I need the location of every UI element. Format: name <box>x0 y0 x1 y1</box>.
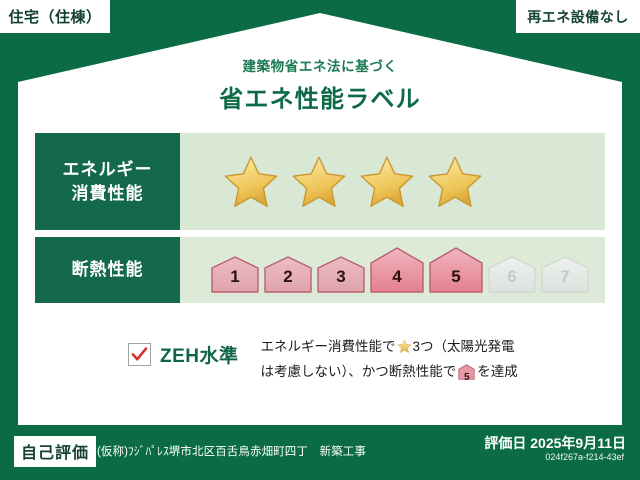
row-energy-label: エネルギー 消費性能 <box>35 133 180 230</box>
row-energy-label-line2: 消費性能 <box>72 182 144 205</box>
insulation-grade-value: 7 <box>540 267 590 287</box>
inline-star-icon <box>397 339 412 361</box>
star-rating <box>222 154 484 210</box>
title-main: 省エネ性能ラベル <box>0 79 640 114</box>
star-icon-filled <box>358 154 416 210</box>
tag-dwelling-type: 住宅（住棟） <box>0 0 110 33</box>
insulation-grade-value: 4 <box>369 267 425 287</box>
evaluation-date: 評価日 2025年9月11日 <box>484 433 626 453</box>
zeh-label: ZEH水準 <box>160 341 239 368</box>
zeh-desc-text-c: は考慮しない）、かつ断熱性能で <box>261 364 457 379</box>
title-subtitle: 建築物省エネ法に基づく <box>0 55 640 75</box>
zeh-checkbox[interactable] <box>128 343 151 366</box>
zeh-desc-text-b: 3つ（太陽光発電 <box>413 339 515 354</box>
row-energy-label-line1: エネルギー <box>63 158 153 181</box>
evaluation-id: 024f267a-f214-43ef <box>545 452 624 462</box>
row-energy-performance: エネルギー 消費性能 <box>35 133 605 230</box>
insulation-grade-5: 5 <box>428 246 484 294</box>
row-insulation-performance: 断熱性能 1234567 <box>35 237 605 303</box>
zeh-description: エネルギー消費性能で3つ（太陽光発電 は考慮しない）、かつ断熱性能で5を達成 <box>261 336 518 387</box>
footer-bar: 自己評価 (仮称)ﾌｼﾞﾊﾟﾚｽ堺市北区百舌鳥赤畑町四丁 新築工事 評価日 20… <box>0 425 640 480</box>
insulation-grade-2: 2 <box>263 255 313 294</box>
star-icon-filled <box>222 154 280 210</box>
zeh-desc-text-a: エネルギー消費性能で <box>261 339 396 354</box>
building-name: (仮称)ﾌｼﾞﾊﾟﾚｽ堺市北区百舌鳥赤畑町四丁 新築工事 <box>97 443 366 459</box>
row-insulation-value: 1234567 <box>180 237 605 303</box>
row-insulation-label: 断熱性能 <box>35 237 180 303</box>
tag-renewable-energy: 再エネ設備なし <box>516 0 640 33</box>
insulation-grade-value: 3 <box>316 267 366 287</box>
insulation-grade-value: 5 <box>428 267 484 287</box>
star-icon-filled <box>426 154 484 210</box>
insulation-grade-1: 1 <box>210 255 260 294</box>
zeh-description-line1: エネルギー消費性能で3つ（太陽光発電 <box>261 336 518 361</box>
inline-grade-badge: 5 <box>458 364 475 387</box>
zeh-desc-text-d: を達成 <box>477 364 518 379</box>
star-icon-filled <box>290 154 348 210</box>
insulation-grade-scale: 1234567 <box>210 246 590 294</box>
title-block: 建築物省エネ法に基づく 省エネ性能ラベル <box>0 55 640 114</box>
zeh-description-line2: は考慮しない）、かつ断熱性能で5を達成 <box>261 361 518 387</box>
insulation-grade-6: 6 <box>487 255 537 294</box>
insulation-grade-7: 7 <box>540 255 590 294</box>
check-icon <box>131 346 148 363</box>
insulation-grade-value: 1 <box>210 267 260 287</box>
self-evaluation-badge: 自己評価 <box>14 436 96 467</box>
row-insulation-label-line1: 断熱性能 <box>72 258 144 281</box>
inline-grade-value: 5 <box>458 370 475 386</box>
insulation-grade-3: 3 <box>316 255 366 294</box>
row-energy-value <box>180 133 605 230</box>
insulation-grade-4: 4 <box>369 246 425 294</box>
energy-performance-label: 住宅（住棟） 再エネ設備なし 建築物省エネ法に基づく 省エネ性能ラベル エネルギ… <box>0 0 640 480</box>
insulation-grade-value: 2 <box>263 267 313 287</box>
zeh-standard-block: ZEH水準 エネルギー消費性能で3つ（太陽光発電 は考慮しない）、かつ断熱性能で… <box>128 336 518 387</box>
insulation-grade-value: 6 <box>487 267 537 287</box>
